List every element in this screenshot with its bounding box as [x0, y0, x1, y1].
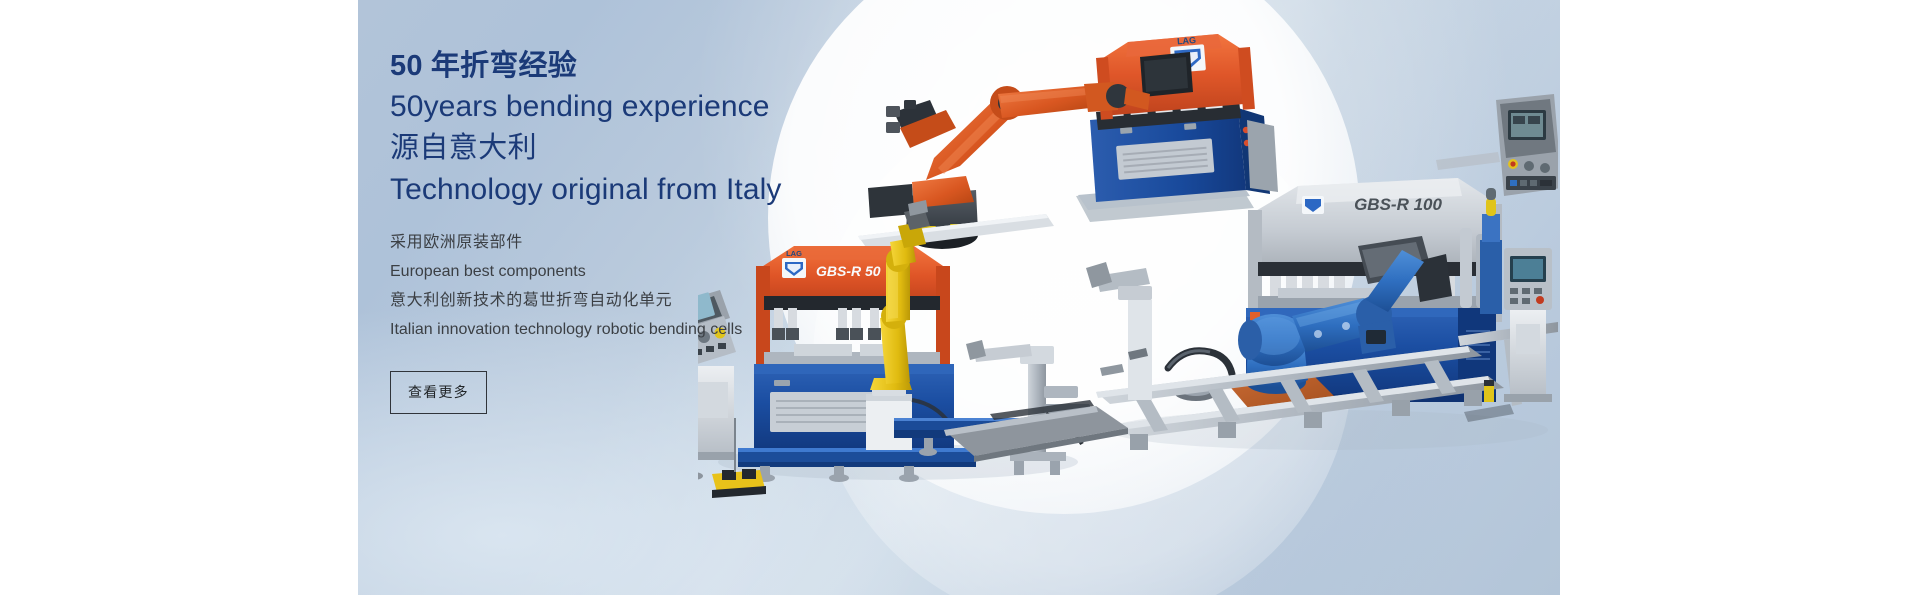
cnc-console-right [1480, 188, 1552, 402]
machine-group-gbs-r-100: GBS-R 100 [944, 178, 1558, 462]
subheadline-line-3: 意大利创新技术的葛世折弯自动化单元 [390, 293, 1010, 309]
view-more-button[interactable]: 查看更多 [390, 371, 487, 414]
headline-line-4: Technology original from Italy [390, 175, 1010, 205]
svg-text:GBS-R 100: GBS-R 100 [1354, 195, 1442, 214]
subheadline-line-4: Italian innovation technology robotic be… [390, 322, 1010, 338]
rail-system [1096, 322, 1558, 450]
cnc-control-pendant [1436, 94, 1558, 196]
headline-line-1: 50 年折弯经验 [390, 52, 1010, 81]
hero-banner-panel: LAG [358, 0, 1560, 595]
subheadline-group: 采用欧洲原装部件 European best components 意大利创新技… [390, 235, 1010, 338]
subheadline-line-2: European best components [390, 264, 1010, 280]
subheadline-line-1: 采用欧洲原装部件 [390, 235, 1010, 251]
banner-root: LAG [0, 0, 1920, 595]
blue-robot-arm [1226, 250, 1424, 410]
cta-wrapper: 查看更多 [390, 371, 1010, 414]
hero-text-block: 50 年折弯经验 50years bending experience 源自意大… [390, 52, 1010, 414]
headline-group: 50 年折弯经验 50years bending experience 源自意大… [390, 52, 1010, 205]
headline-line-3: 源自意大利 [390, 134, 1010, 163]
headline-line-2: 50years bending experience [390, 92, 1010, 122]
svg-text:LAG: LAG [1177, 35, 1197, 46]
